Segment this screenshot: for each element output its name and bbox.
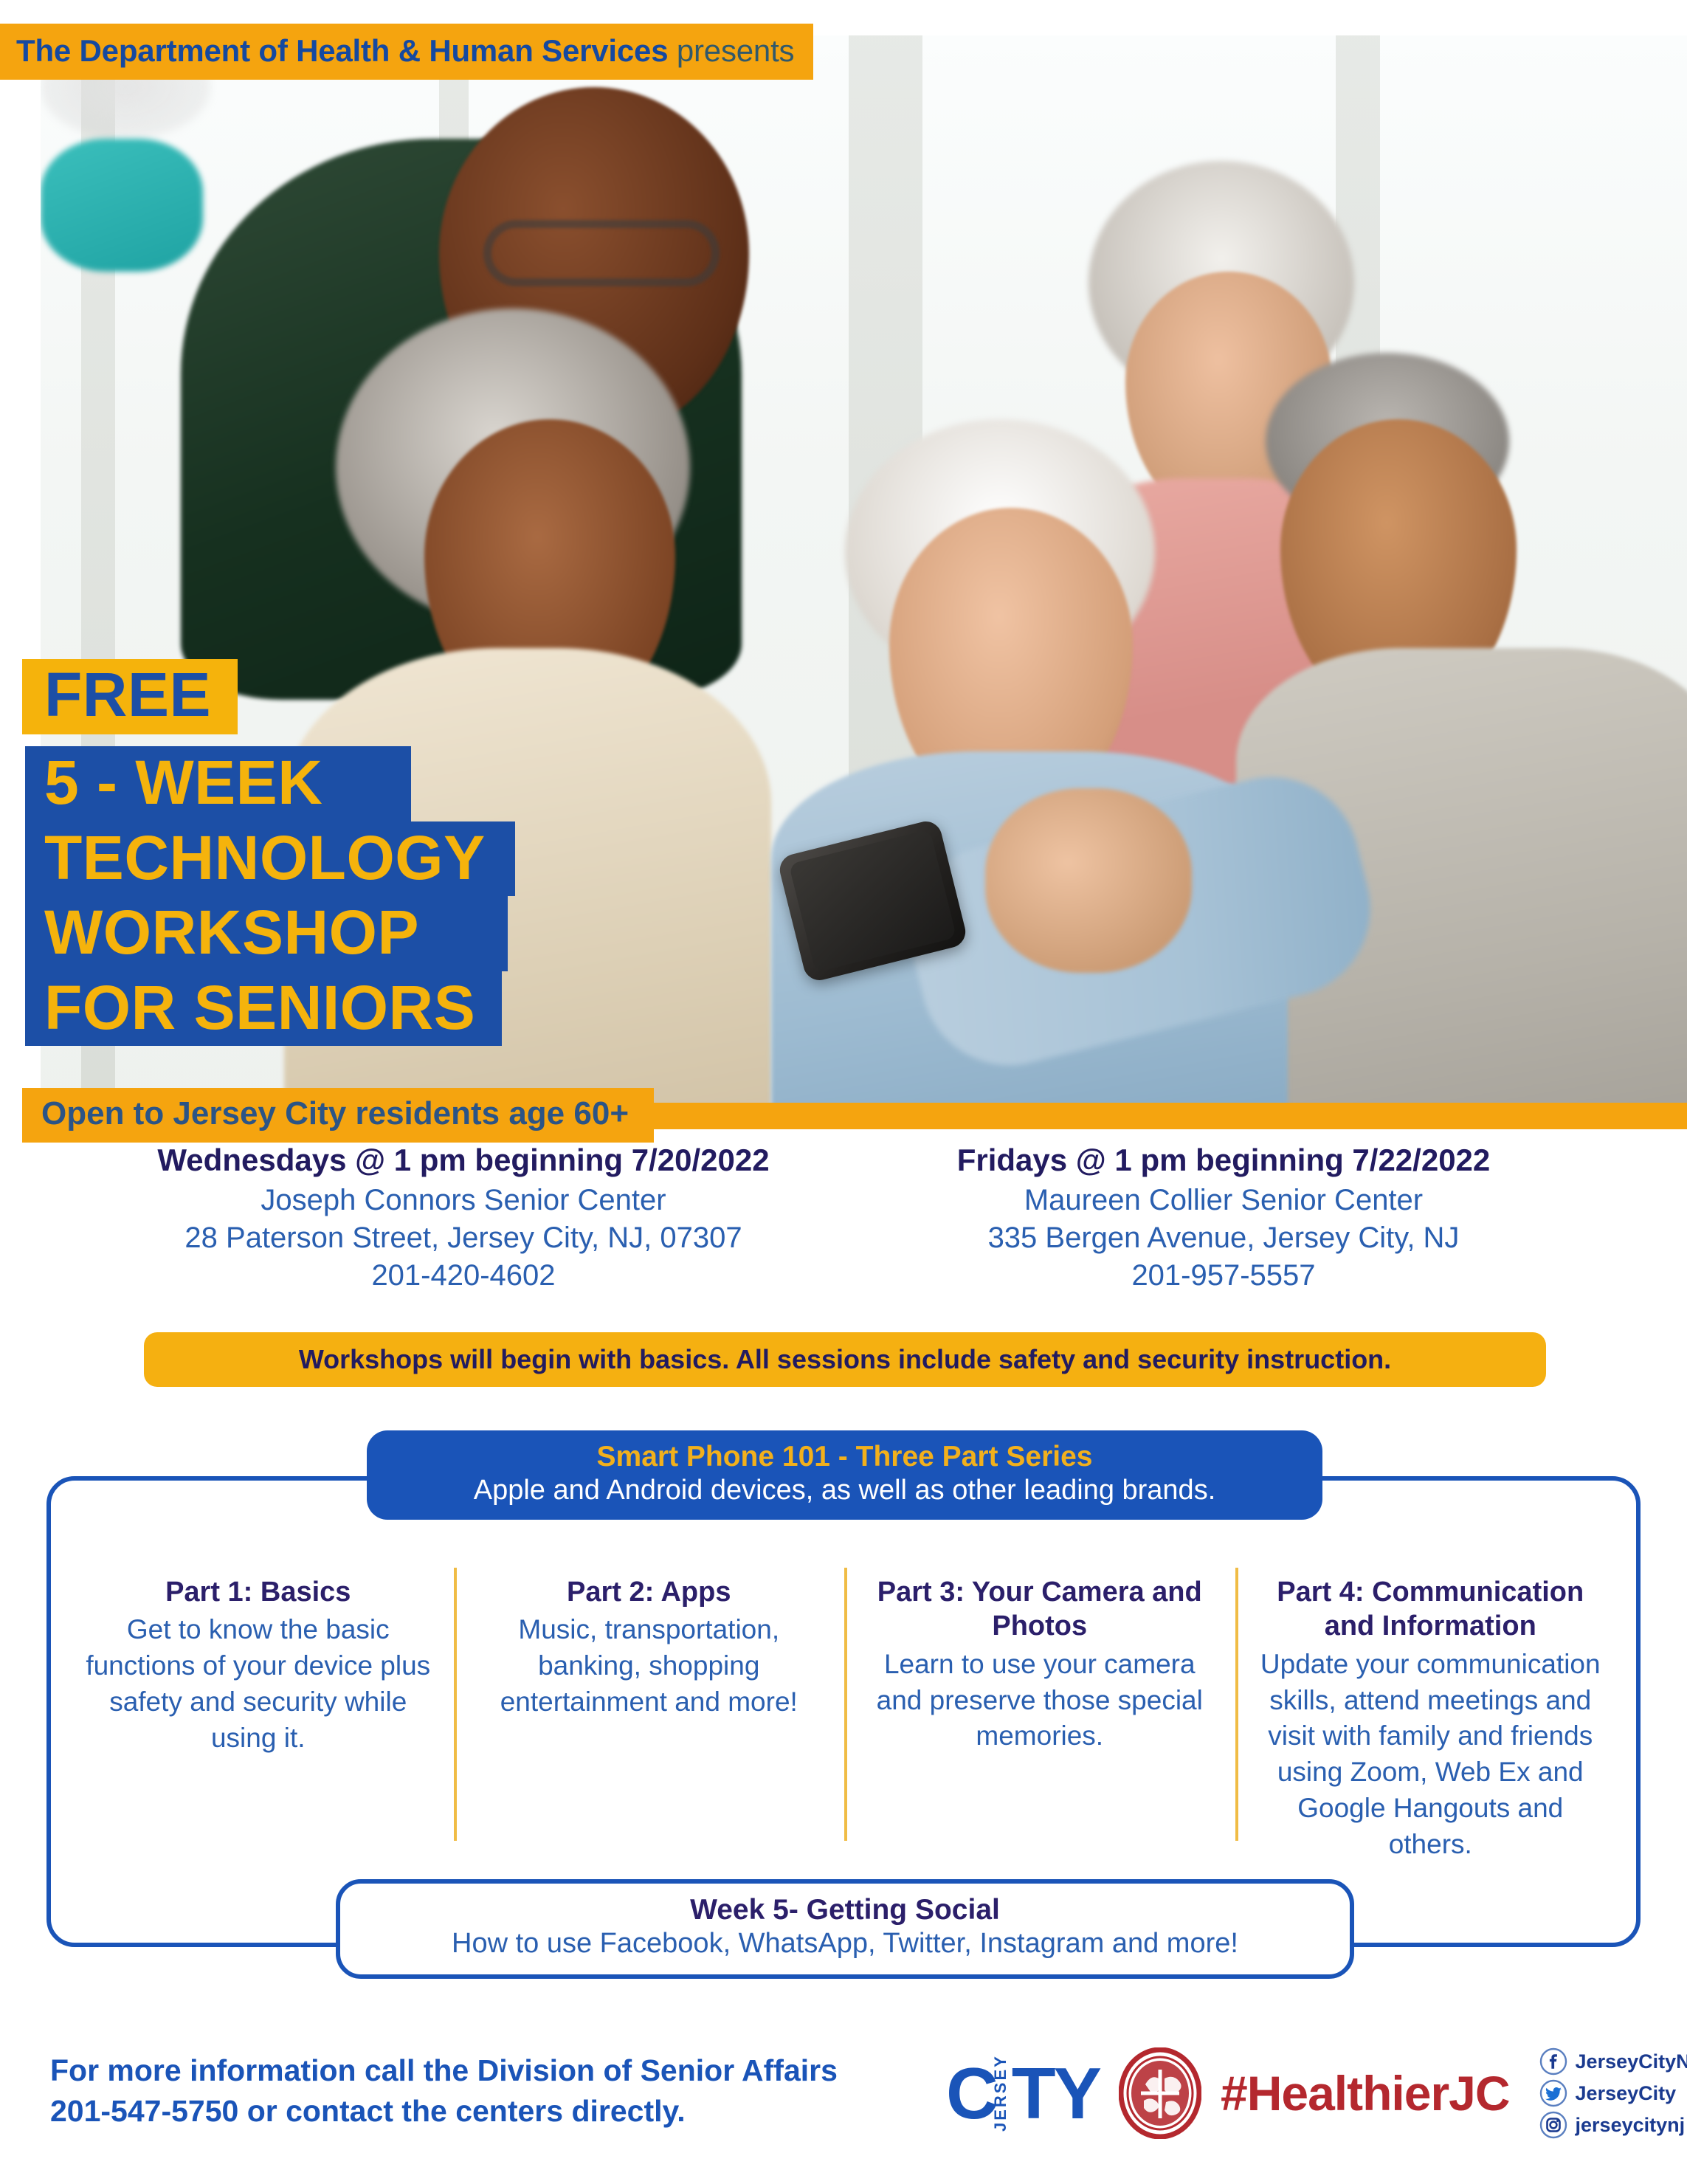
- flyer-page: The Department of Health & Human Service…: [0, 0, 1687, 2184]
- schedule-address: 335 Bergen Avenue, Jersey City, NJ: [891, 1219, 1556, 1257]
- department-name: The Department of Health & Human Service…: [16, 33, 668, 68]
- jersey-city-logo: C JERSEY TY: [946, 2053, 1100, 2134]
- instagram-icon: [1539, 2111, 1567, 2139]
- instagram-handle: jerseycitynj: [1576, 2114, 1686, 2137]
- course-section: Smart Phone 101 - Three Part Series Appl…: [0, 1430, 1687, 1999]
- part-body: Update your communication skills, attend…: [1255, 1647, 1607, 1863]
- schedule-heading: Fridays @ 1 pm beginning 7/22/2022: [891, 1143, 1556, 1178]
- jersey-city-seal-icon: [1119, 2047, 1201, 2139]
- part-title: Part 4: Communication and Information: [1255, 1575, 1607, 1644]
- main-title: 5 - WEEK TECHNOLOGY WORKSHOP FOR SENIORS: [22, 739, 540, 1059]
- schedule-address: 28 Paterson Street, Jersey City, NJ, 073…: [131, 1219, 796, 1257]
- presents-label: presents: [677, 33, 795, 68]
- title-line-1: 5 - WEEK: [25, 746, 411, 821]
- social-row-facebook[interactable]: JerseyCityNJ: [1539, 2047, 1687, 2076]
- week5-subtitle: How to use Facebook, WhatsApp, Twitter, …: [359, 1928, 1331, 1960]
- logo-letter-c: C: [946, 2061, 996, 2126]
- course-part-4: Part 4: Communication and Information Up…: [1235, 1575, 1626, 1863]
- facebook-handle: JerseyCityNJ: [1576, 2050, 1687, 2073]
- part-title: Part 1: Basics: [82, 1575, 435, 1609]
- schedule-venue: Joseph Connors Senior Center: [131, 1182, 796, 1219]
- schedule-venue: Maureen Collier Senior Center: [891, 1182, 1556, 1219]
- eligibility-banner: Open to Jersey City residents age 60+: [22, 1088, 654, 1143]
- course-part-1: Part 1: Basics Get to know the basic fun…: [63, 1575, 454, 1863]
- notice-banner: Workshops will begin with basics. All se…: [144, 1332, 1546, 1387]
- course-header-title: Smart Phone 101 - Three Part Series: [389, 1441, 1300, 1473]
- footer-info-line-2[interactable]: 201-547-5750 or contact the centers dire…: [50, 2091, 899, 2132]
- course-header-subtitle: Apple and Android devices, as well as ot…: [389, 1475, 1300, 1506]
- part-title: Part 3: Your Camera and Photos: [863, 1575, 1216, 1644]
- course-parts-grid: Part 1: Basics Get to know the basic fun…: [63, 1575, 1626, 1863]
- course-part-3: Part 3: Your Camera and Photos Learn to …: [844, 1575, 1235, 1863]
- free-badge: FREE: [22, 659, 238, 734]
- part-body: Learn to use your camera and preserve th…: [863, 1647, 1216, 1754]
- healthier-jc-hashtag: #HealthierJC: [1221, 2065, 1510, 2121]
- logo-letters-ty: TY: [1012, 2061, 1100, 2126]
- part-title: Part 2: Apps: [473, 1575, 826, 1609]
- title-line-2: TECHNOLOGY: [25, 821, 515, 897]
- teal-polo-collar: [41, 139, 203, 272]
- social-row-instagram[interactable]: jerseycitynj: [1539, 2111, 1687, 2139]
- footer-info-line-1: For more information call the Division o…: [50, 2050, 899, 2091]
- part-body: Music, transportation, banking, shopping…: [473, 1612, 826, 1720]
- schedule-column-fridays: Fridays @ 1 pm beginning 7/22/2022 Maure…: [891, 1143, 1556, 1295]
- department-banner: The Department of Health & Human Service…: [0, 24, 813, 80]
- week5-box: Week 5- Getting Social How to use Facebo…: [336, 1879, 1354, 1979]
- schedule-column-wednesdays: Wednesdays @ 1 pm beginning 7/20/2022 Jo…: [131, 1143, 796, 1295]
- social-links: JerseyCityNJ JerseyCity: [1539, 2047, 1687, 2139]
- schedule-section: Wednesdays @ 1 pm beginning 7/20/2022 Jo…: [0, 1143, 1687, 1295]
- facebook-icon: [1539, 2047, 1567, 2076]
- course-header-badge: Smart Phone 101 - Three Part Series Appl…: [367, 1430, 1322, 1520]
- course-part-2: Part 2: Apps Music, transportation, bank…: [454, 1575, 845, 1863]
- eyeglasses: [483, 220, 720, 286]
- social-row-twitter[interactable]: JerseyCity: [1539, 2079, 1687, 2107]
- schedule-heading: Wednesdays @ 1 pm beginning 7/20/2022: [131, 1143, 796, 1178]
- footer-contact-text: For more information call the Division o…: [50, 2050, 899, 2132]
- week5-title: Week 5- Getting Social: [359, 1894, 1331, 1926]
- twitter-icon: [1539, 2079, 1567, 2107]
- title-line-3: WORKSHOP: [25, 896, 508, 971]
- footer-logos: C JERSEY TY #HealthierJC: [946, 2047, 1687, 2139]
- schedule-phone[interactable]: 201-420-4602: [131, 1257, 796, 1295]
- footer-section: For more information call the Division o…: [0, 2037, 1687, 2184]
- title-line-4: FOR SENIORS: [25, 971, 502, 1047]
- hand-holding-phone: [985, 788, 1192, 973]
- schedule-phone[interactable]: 201-957-5557: [891, 1257, 1556, 1295]
- twitter-handle: JerseyCity: [1576, 2082, 1677, 2105]
- part-body: Get to know the basic functions of your …: [82, 1612, 435, 1756]
- logo-jersey-vertical: JERSEY: [991, 2059, 1010, 2127]
